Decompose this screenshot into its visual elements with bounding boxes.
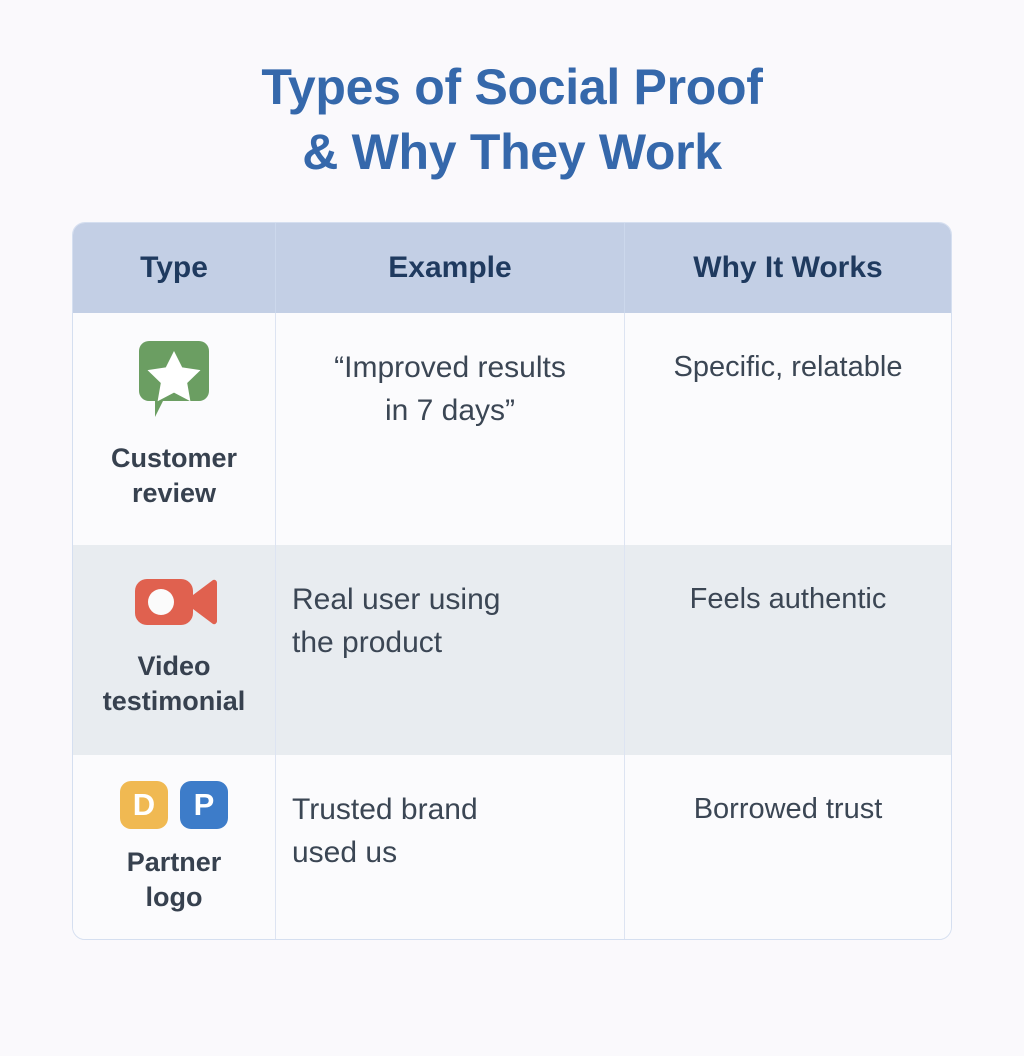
- example-text: “Improved results in 7 days”: [276, 347, 624, 432]
- type-cell-video-testimonial: Video testimonial: [73, 545, 275, 755]
- speech-bubble-star-icon: [131, 339, 217, 425]
- video-camera-icon: [131, 571, 217, 633]
- example-line-1: Trusted brand: [292, 793, 478, 826]
- type-label-partner-logo: Partner logo: [127, 845, 222, 914]
- type-label-line-2: logo: [146, 882, 203, 912]
- partner-logo-d-letter: D: [133, 787, 155, 823]
- column-header-example: Example: [275, 223, 624, 313]
- why-cell-partner-logo: Borrowed trust: [624, 755, 951, 940]
- type-label-line-2: testimonial: [103, 686, 246, 716]
- type-cell-partner-logo: D P Partner logo: [73, 755, 275, 940]
- title-line-2: & Why They Work: [0, 120, 1024, 185]
- social-proof-table: Type Example Why It Works Customer revie…: [72, 222, 952, 940]
- partner-logo-p-letter: P: [194, 787, 215, 823]
- type-label-line-1: Video: [137, 651, 210, 681]
- example-line-2: used us: [292, 836, 397, 869]
- type-label-video-testimonial: Video testimonial: [103, 649, 246, 718]
- why-cell-customer-review: Specific, relatable: [624, 313, 951, 545]
- page-title: Types of Social Proof & Why They Work: [0, 55, 1024, 185]
- partner-logo-p-icon: P: [180, 781, 228, 829]
- infographic-page: Types of Social Proof & Why They Work Ty…: [0, 0, 1024, 1056]
- type-label-line-1: Partner: [127, 847, 222, 877]
- why-text: Specific, relatable: [625, 347, 951, 388]
- column-header-why-it-works: Why It Works: [624, 223, 951, 313]
- example-text: Real user using the product: [276, 579, 624, 664]
- example-line-2: in 7 days”: [385, 394, 515, 427]
- example-line-2: the product: [292, 626, 442, 659]
- why-text: Feels authentic: [625, 579, 951, 620]
- partner-logo-d-icon: D: [120, 781, 168, 829]
- example-cell-customer-review: “Improved results in 7 days”: [275, 313, 624, 545]
- column-header-type: Type: [73, 223, 275, 313]
- example-line-1: Real user using: [292, 583, 500, 616]
- table-row: D P Partner logo Trusted brand used us: [73, 755, 951, 940]
- type-label-line-2: review: [132, 478, 216, 508]
- table-row: Customer review “Improved results in 7 d…: [73, 313, 951, 545]
- type-cell-customer-review: Customer review: [73, 313, 275, 545]
- example-text: Trusted brand used us: [276, 789, 624, 874]
- example-cell-partner-logo: Trusted brand used us: [275, 755, 624, 940]
- why-text: Borrowed trust: [625, 789, 951, 830]
- type-label-line-1: Customer: [111, 443, 237, 473]
- table-row: Video testimonial Real user using the pr…: [73, 545, 951, 755]
- table-header-row: Type Example Why It Works: [73, 223, 951, 313]
- title-line-1: Types of Social Proof: [0, 55, 1024, 120]
- partner-logos-icon: D P: [120, 781, 228, 829]
- type-label-customer-review: Customer review: [111, 441, 237, 510]
- example-cell-video-testimonial: Real user using the product: [275, 545, 624, 755]
- example-line-1: “Improved results: [334, 351, 566, 384]
- why-cell-video-testimonial: Feels authentic: [624, 545, 951, 755]
